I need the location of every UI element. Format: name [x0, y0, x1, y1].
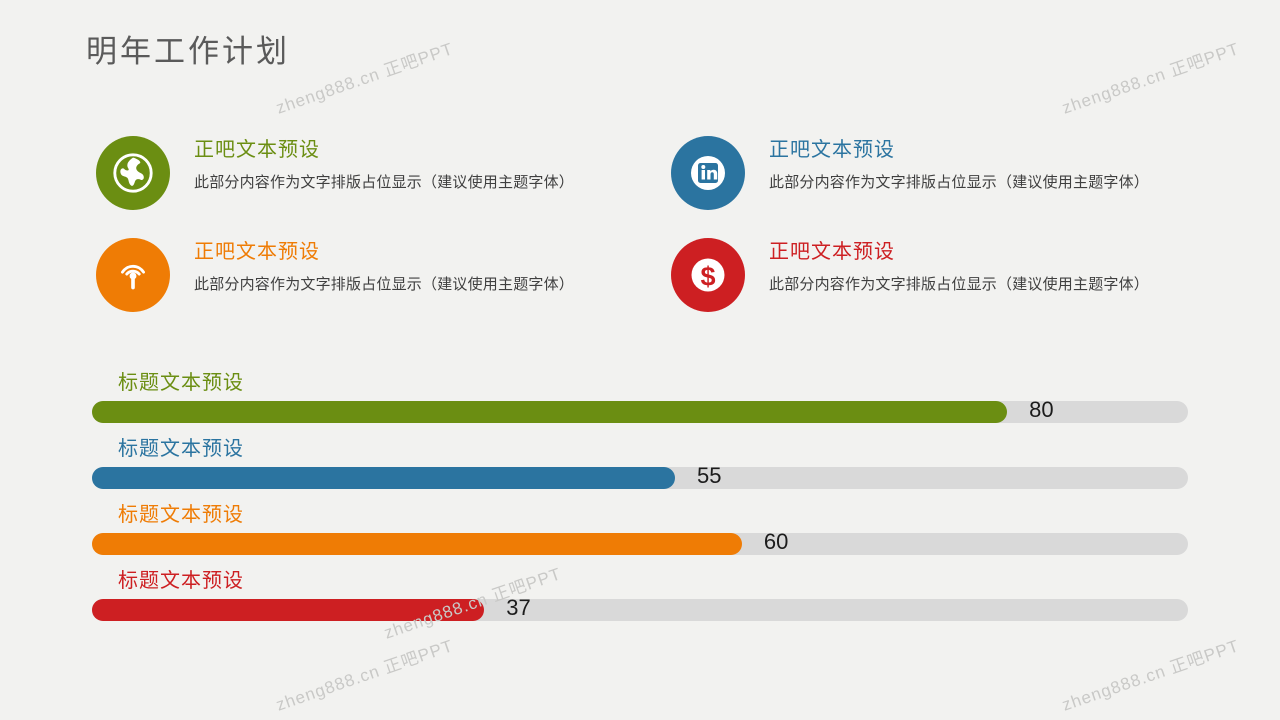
- dollar-sign-icon: $: [671, 238, 745, 312]
- feature-heading: 正吧文本预设: [194, 240, 574, 263]
- progress-label: 标题文本预设: [118, 366, 1188, 395]
- progress-value: 80: [1029, 397, 1053, 423]
- page-title: 明年工作计划: [86, 26, 290, 71]
- feature-text-group: 正吧文本预设 此部分内容作为文字排版占位显示（建议使用主题字体）: [194, 236, 574, 294]
- progress-row-3: 标题文本预设 60: [92, 498, 1188, 555]
- progress-row-4: 标题文本预设 37: [92, 564, 1188, 621]
- feature-body: 此部分内容作为文字排版占位显示（建议使用主题字体）: [769, 171, 1149, 192]
- feature-body: 此部分内容作为文字排版占位显示（建议使用主题字体）: [194, 171, 574, 192]
- feature-block-dollar[interactable]: $ 正吧文本预设 此部分内容作为文字排版占位显示（建议使用主题字体）: [671, 236, 1149, 312]
- svg-text:$: $: [700, 262, 715, 292]
- progress-label: 标题文本预设: [118, 432, 1188, 461]
- progress-track[interactable]: 60: [92, 533, 1188, 555]
- progress-row-1: 标题文本预设 80: [92, 366, 1188, 423]
- feature-heading: 正吧文本预设: [769, 138, 1149, 161]
- feature-block-globe[interactable]: 正吧文本预设 此部分内容作为文字排版占位显示（建议使用主题字体）: [96, 134, 574, 210]
- watermark: zheng888.cn 正吧PPT: [1058, 34, 1242, 118]
- progress-label: 标题文本预设: [118, 498, 1188, 527]
- progress-fill: [92, 533, 742, 555]
- progress-track[interactable]: 55: [92, 467, 1188, 489]
- feature-text-group: 正吧文本预设 此部分内容作为文字排版占位显示（建议使用主题字体）: [194, 134, 574, 192]
- feature-text-group: 正吧文本预设 此部分内容作为文字排版占位显示（建议使用主题字体）: [769, 134, 1149, 192]
- progress-value: 60: [764, 529, 788, 555]
- globe-icon: [96, 136, 170, 210]
- feature-body: 此部分内容作为文字排版占位显示（建议使用主题字体）: [769, 273, 1149, 294]
- progress-track[interactable]: 37: [92, 599, 1188, 621]
- progress-value: 55: [697, 463, 721, 489]
- progress-fill: [92, 467, 675, 489]
- progress-label: 标题文本预设: [118, 564, 1188, 593]
- feature-text-group: 正吧文本预设 此部分内容作为文字排版占位显示（建议使用主题字体）: [769, 236, 1149, 294]
- feature-block-linkedin[interactable]: 正吧文本预设 此部分内容作为文字排版占位显示（建议使用主题字体）: [671, 134, 1149, 210]
- slide-canvas: 明年工作计划 正吧文本预设 此部分内容作为文字排版占位显示（建议使用主题字体）: [0, 0, 1280, 720]
- broadcast-signal-icon: [96, 238, 170, 312]
- feature-heading: 正吧文本预设: [194, 138, 574, 161]
- watermark: zheng888.cn 正吧PPT: [1058, 631, 1242, 715]
- watermark: zheng888.cn 正吧PPT: [272, 631, 456, 715]
- progress-track[interactable]: 80: [92, 401, 1188, 423]
- feature-block-broadcast[interactable]: 正吧文本预设 此部分内容作为文字排版占位显示（建议使用主题字体）: [96, 236, 574, 312]
- feature-heading: 正吧文本预设: [769, 240, 1149, 263]
- watermark: zheng888.cn 正吧PPT: [272, 34, 456, 118]
- feature-body: 此部分内容作为文字排版占位显示（建议使用主题字体）: [194, 273, 574, 294]
- progress-row-2: 标题文本预设 55: [92, 432, 1188, 489]
- progress-fill: [92, 401, 1007, 423]
- linkedin-icon: [671, 136, 745, 210]
